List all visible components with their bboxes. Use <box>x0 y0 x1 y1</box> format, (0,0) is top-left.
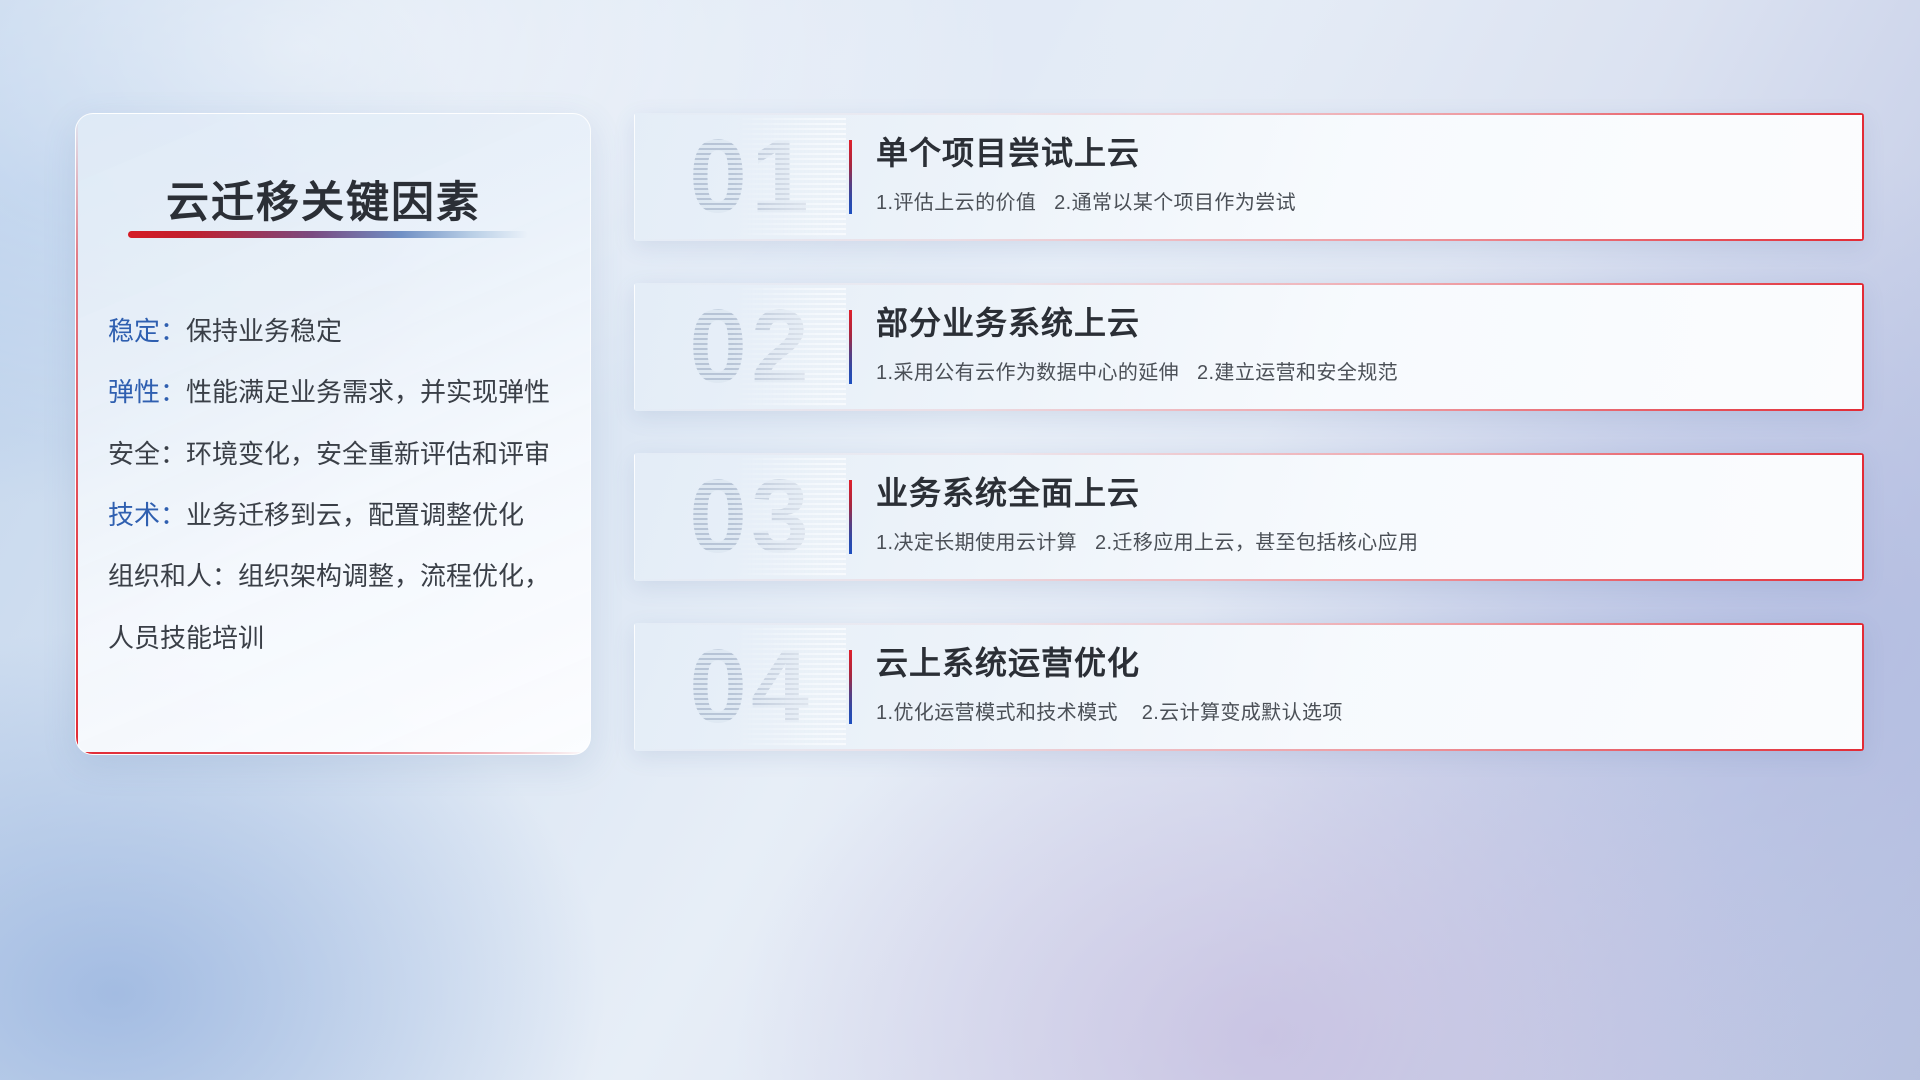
factor-label: 安全： <box>108 439 186 469</box>
panel-bottom-accent-line <box>76 752 590 754</box>
card-left-edge <box>634 113 635 241</box>
card-text-block: 业务系统全面上云 1.决定长期使用云计算 2.迁移应用上云，甚至包括核心应用 <box>876 475 1836 555</box>
stage-card[interactable]: 02 部分业务系统上云 1.采用公有云作为数据中心的延伸 2.建立运营和安全规范 <box>634 283 1864 411</box>
card-divider-gradient <box>849 140 852 214</box>
card-bottom-accent-line <box>634 409 1864 411</box>
factor-value: 组织架构调整，流程优化， <box>238 561 550 591</box>
factor-label: 组织和人： <box>108 561 238 591</box>
stage-card[interactable]: 03 业务系统全面上云 1.决定长期使用云计算 2.迁移应用上云，甚至包括核心应… <box>634 453 1864 581</box>
card-title: 部分业务系统上云 <box>876 305 1836 343</box>
card-left-edge <box>634 453 635 581</box>
card-top-accent-line <box>634 113 1864 115</box>
stage-number-ghost: 02 <box>656 288 846 406</box>
card-subtitle: 1.采用公有云作为数据中心的延伸 2.建立运营和安全规范 <box>876 356 1836 385</box>
factor-item: 稳定：保持业务稳定 <box>108 314 576 348</box>
stage-number-ghost: 03 <box>656 458 846 576</box>
factor-item: 安全：环境变化，安全重新评估和评审 <box>108 437 576 471</box>
card-left-edge <box>634 283 635 411</box>
factor-item: 技术：业务迁移到云，配置调整优化 <box>108 498 576 532</box>
card-subtitle: 1.评估上云的价值 2.通常以某个项目作为尝试 <box>876 186 1836 215</box>
card-top-accent-line <box>634 623 1864 625</box>
card-title: 单个项目尝试上云 <box>876 135 1836 173</box>
factor-item-continuation: 人员技能培训 <box>108 621 576 655</box>
card-title: 业务系统全面上云 <box>876 475 1836 513</box>
factor-value: 人员技能培训 <box>108 623 264 653</box>
card-subtitle: 1.优化运营模式和技术模式 2.云计算变成默认选项 <box>876 696 1836 725</box>
stage-card[interactable]: 01 单个项目尝试上云 1.评估上云的价值 2.通常以某个项目作为尝试 <box>634 113 1864 241</box>
panel-left-accent-line <box>76 114 78 754</box>
stage-card[interactable]: 04 云上系统运营优化 1.优化运营模式和技术模式 2.云计算变成默认选项 <box>634 623 1864 751</box>
card-divider-gradient <box>849 310 852 384</box>
key-factors-panel: 云迁移关键因素 稳定：保持业务稳定 弹性：性能满足业务需求，并实现弹性 安全：环… <box>75 113 591 755</box>
stage-card-list: 01 单个项目尝试上云 1.评估上云的价值 2.通常以某个项目作为尝试 02 部… <box>634 113 1864 793</box>
factor-item: 弹性：性能满足业务需求，并实现弹性 <box>108 375 576 409</box>
stage-number-ghost: 01 <box>656 118 846 236</box>
factor-value: 环境变化，安全重新评估和评审 <box>186 439 550 469</box>
card-text-block: 单个项目尝试上云 1.评估上云的价值 2.通常以某个项目作为尝试 <box>876 135 1836 215</box>
factor-value: 业务迁移到云，配置调整优化 <box>186 500 524 530</box>
factor-value: 保持业务稳定 <box>186 316 342 346</box>
factor-item: 组织和人：组织架构调整，流程优化， <box>108 559 576 593</box>
stage-number-ghost: 04 <box>656 628 846 746</box>
card-subtitle: 1.决定长期使用云计算 2.迁移应用上云，甚至包括核心应用 <box>876 526 1836 555</box>
card-bottom-accent-line <box>634 749 1864 751</box>
card-title: 云上系统运营优化 <box>876 645 1836 683</box>
card-bottom-accent-line <box>634 579 1864 581</box>
panel-title: 云迁移关键因素 <box>166 168 481 230</box>
card-divider-gradient <box>849 650 852 724</box>
factor-label: 弹性： <box>108 377 186 407</box>
title-underline-gradient <box>128 231 528 238</box>
card-right-accent-line <box>1862 113 1864 241</box>
slide-root: 云迁移关键因素 稳定：保持业务稳定 弹性：性能满足业务需求，并实现弹性 安全：环… <box>0 0 1920 1080</box>
factor-label: 技术： <box>108 500 186 530</box>
card-text-block: 云上系统运营优化 1.优化运营模式和技术模式 2.云计算变成默认选项 <box>876 645 1836 725</box>
card-right-accent-line <box>1862 283 1864 411</box>
card-top-accent-line <box>634 453 1864 455</box>
factor-value: 性能满足业务需求，并实现弹性 <box>186 377 550 407</box>
card-left-edge <box>634 623 635 751</box>
card-text-block: 部分业务系统上云 1.采用公有云作为数据中心的延伸 2.建立运营和安全规范 <box>876 305 1836 385</box>
factor-label: 稳定： <box>108 316 186 346</box>
card-right-accent-line <box>1862 453 1864 581</box>
card-divider-gradient <box>849 480 852 554</box>
card-bottom-accent-line <box>634 239 1864 241</box>
factor-list: 稳定：保持业务稳定 弹性：性能满足业务需求，并实现弹性 安全：环境变化，安全重新… <box>108 314 576 682</box>
card-top-accent-line <box>634 283 1864 285</box>
card-right-accent-line <box>1862 623 1864 751</box>
